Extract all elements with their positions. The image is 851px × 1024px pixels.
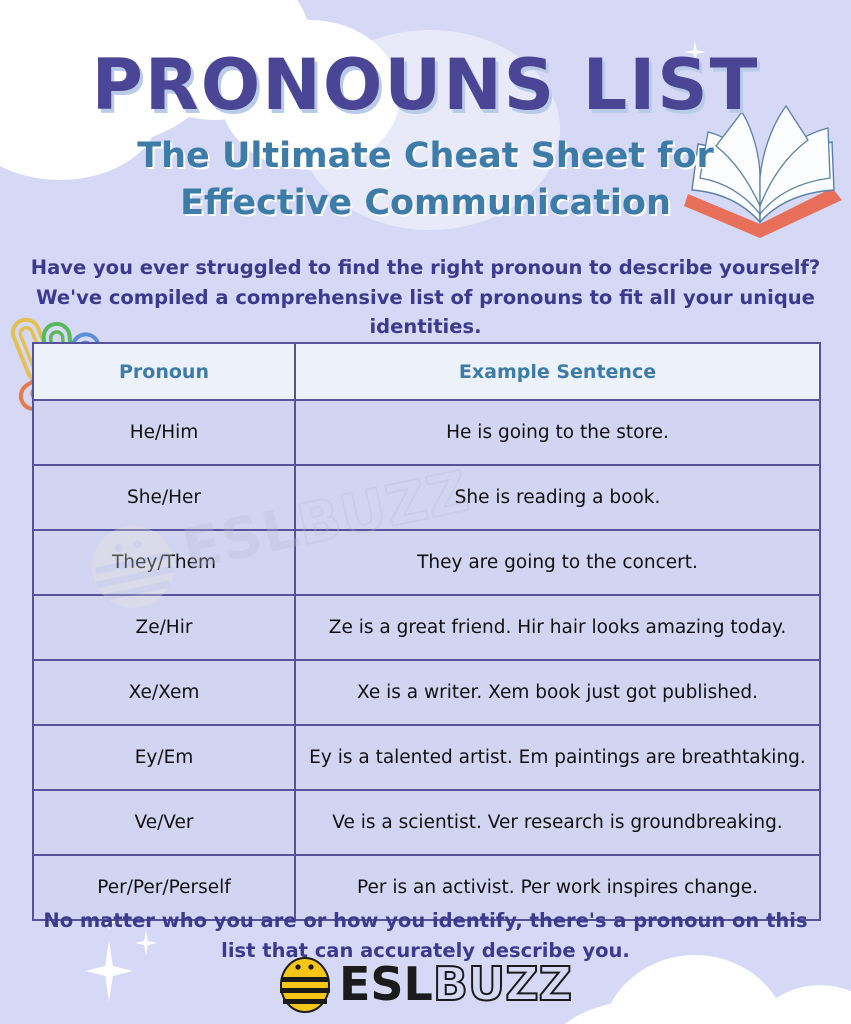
table-row: He/HimHe is going to the store. (33, 400, 820, 465)
cell-pronoun: Ve/Ver (33, 790, 295, 855)
column-header-example: Example Sentence (295, 343, 820, 400)
cell-pronoun: She/Her (33, 465, 295, 530)
table-row: Ze/HirZe is a great friend. Hir hair loo… (33, 595, 820, 660)
cell-pronoun: He/Him (33, 400, 295, 465)
pronouns-table-wrapper: ESLBUZZ Pronoun Example Sentence He/HimH… (32, 342, 819, 921)
cell-example: He is going to the store. (295, 400, 820, 465)
intro-paragraph: Have you ever struggled to find the righ… (28, 253, 823, 342)
cell-example: Ve is a scientist. Ver research is groun… (295, 790, 820, 855)
logo-buzz: BUZZ (433, 957, 572, 1011)
table-header-row: Pronoun Example Sentence (33, 343, 820, 400)
cell-example: Xe is a writer. Xem book just got publis… (295, 660, 820, 725)
page-subtitle: The Ultimate Cheat Sheet for Effective C… (60, 133, 791, 226)
table-body: He/HimHe is going to the store. She/HerS… (33, 400, 820, 920)
cell-example: Ze is a great friend. Hir hair looks ama… (295, 595, 820, 660)
poster-canvas: PRONOUNS LIST The Ultimate Cheat Sheet f… (0, 0, 851, 1024)
cell-example: Ey is a talented artist. Em paintings ar… (295, 725, 820, 790)
cell-pronoun: Xe/Xem (33, 660, 295, 725)
page-title: PRONOUNS LIST (0, 44, 851, 126)
cell-example: They are going to the concert. (295, 530, 820, 595)
table-row: Ve/VerVe is a scientist. Ver research is… (33, 790, 820, 855)
logo-wordmark: ESLBUZZ (339, 961, 572, 1007)
column-header-pronoun: Pronoun (33, 343, 295, 400)
cell-pronoun: Ze/Hir (33, 595, 295, 660)
logo-esl: ESL (339, 957, 433, 1011)
cell-pronoun: Ey/Em (33, 725, 295, 790)
table-row: Xe/XemXe is a writer. Xem book just got … (33, 660, 820, 725)
cell-pronoun: They/Them (33, 530, 295, 595)
subtitle-line-2: Effective Communication (60, 180, 791, 227)
table-row: She/HerShe is reading a book. (33, 465, 820, 530)
table-row: They/ThemThey are going to the concert. (33, 530, 820, 595)
cell-example: She is reading a book. (295, 465, 820, 530)
bee-logo-icon (279, 955, 331, 1013)
subtitle-line-1: The Ultimate Cheat Sheet for (60, 133, 791, 180)
table-row: Ey/EmEy is a talented artist. Em paintin… (33, 725, 820, 790)
eslbuzz-logo: ESLBUZZ (0, 955, 851, 1013)
pronouns-table: Pronoun Example Sentence He/HimHe is goi… (32, 342, 821, 921)
